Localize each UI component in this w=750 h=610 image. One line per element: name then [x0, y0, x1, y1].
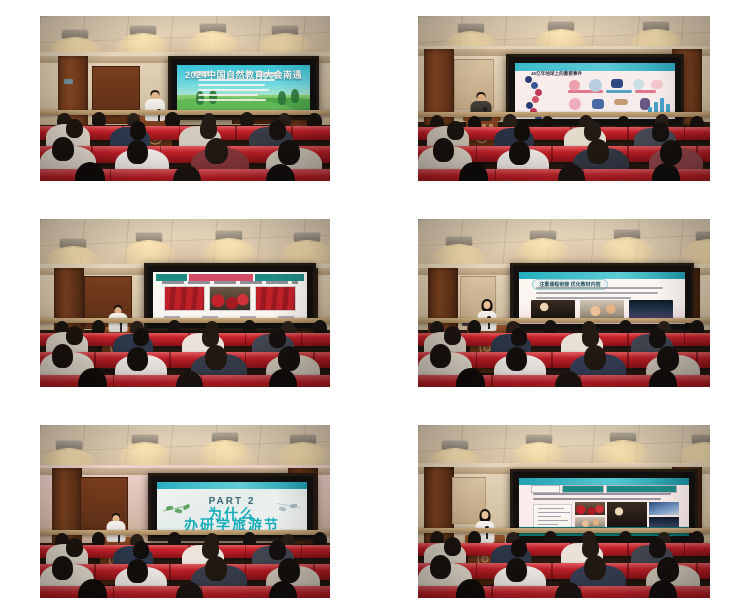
audience-head: [205, 556, 227, 581]
audience-head: [66, 326, 83, 345]
audience-head: [649, 538, 666, 558]
lecture-hall-scene-5: PART 2 为什么 办研学旅游节: [40, 425, 330, 598]
slide-header-bar: [157, 482, 307, 489]
photo-panel-1[interactable]: 2024中国自然教育大会南通分论坛: [40, 16, 330, 181]
audience-area-2: [418, 112, 710, 181]
ceiling-lamp-icon: [60, 239, 86, 248]
ceiling: [40, 16, 330, 52]
audience-head: [205, 138, 228, 164]
slide-photo: [164, 286, 205, 311]
slide-evolution-timeline: · · · · · · · · · · · · · · · · · · · · …: [515, 63, 675, 119]
photo-panel-4[interactable]: 注重课程衔接 优化教材内容: [418, 219, 710, 387]
projection-screen: · · · · · · · · · · · · · · · · · · · · …: [515, 63, 675, 119]
audience-head: [269, 540, 286, 560]
audience-head: [447, 121, 464, 140]
ceiling-lamp-icon: [200, 24, 226, 33]
audience-head: [652, 122, 669, 142]
audience-head: [278, 558, 300, 583]
ceiling-lamp-icon: [643, 22, 669, 31]
photo-panel-2[interactable]: · · · · · · · · · · · · · · · · · · · · …: [418, 16, 710, 181]
ceiling-lamp-icon: [530, 231, 556, 240]
lecture-hall-scene-6: 开启线上模式，开展"研学旅游节"，走进11所试点学校，覆盖近万名师生: [418, 425, 710, 598]
ceiling-lamp-icon: [132, 435, 158, 444]
audience-head: [52, 556, 73, 580]
slide-header-bar: · · · · · · · · · · · · · · · · · · · · …: [515, 63, 675, 71]
ceiling: [40, 219, 330, 264]
slide-header-bar: [519, 272, 685, 279]
ceiling-lamp-icon: [446, 237, 472, 246]
audience-head: [66, 538, 83, 557]
slide-document-thumb: [533, 504, 572, 529]
dna-helix-graphic: [523, 76, 549, 110]
audience-area-5: [40, 529, 330, 598]
audience-head: [657, 346, 679, 371]
ceiling-lamp-icon: [272, 26, 298, 35]
audience-head: [130, 121, 146, 140]
audience-head: [506, 558, 527, 582]
audience-head: [133, 541, 149, 559]
audience-area-1: [40, 108, 330, 181]
audience-head: [584, 555, 606, 580]
audience-head: [511, 539, 527, 557]
audience-head: [269, 120, 286, 140]
audience-head: [430, 555, 451, 579]
audience-head: [52, 344, 73, 368]
slide-photo: [575, 502, 605, 514]
audience-head: [66, 119, 83, 138]
exit-sign-icon: [64, 79, 73, 84]
audience-head: [127, 140, 148, 164]
projection-screen: 2024中国自然教育大会南通分论坛: [177, 65, 310, 111]
ceiling-lamp-icon: [526, 435, 552, 444]
audience-head: [269, 328, 286, 348]
ceiling: [418, 219, 710, 264]
audience-head: [127, 559, 148, 583]
audience-head: [511, 328, 527, 346]
audience-head: [78, 579, 107, 598]
ceiling: [40, 425, 330, 465]
ceiling-lamp-icon: [56, 441, 82, 450]
ceiling-lamp-icon: [442, 441, 468, 450]
audience-head: [587, 139, 609, 164]
audience-head: [202, 327, 219, 347]
photo-panel-3[interactable]: Speaker at podium; screen shows a three-…: [40, 219, 330, 387]
lecture-hall-scene-3: [40, 219, 330, 387]
audience-area-3: [40, 316, 330, 387]
audience-head: [444, 326, 461, 345]
ceiling-lamp-icon: [216, 231, 242, 240]
speaker-head: [484, 301, 491, 309]
projection-screen: PART 2 为什么 办研学旅游节: [157, 482, 307, 532]
ceiling-lamp-icon: [294, 233, 320, 242]
slide-photo: [255, 286, 296, 311]
audience-head: [649, 328, 666, 348]
ceiling-lamp-icon: [458, 24, 484, 33]
ceiling-lamp-icon: [696, 232, 710, 241]
ceiling: [418, 425, 710, 463]
slide-photo-grid: [575, 502, 679, 529]
lecture-hall-scene-1: 2024中国自然教育大会南通分论坛: [40, 16, 330, 181]
slide-photo-grid: [164, 286, 296, 311]
slide-photo: [209, 286, 250, 311]
ceiling-lamp-icon: [212, 433, 238, 442]
lecture-hall-scene-2: · · · · · · · · · · · · · · · · · · · · …: [418, 16, 710, 181]
slide-heading-line: [162, 281, 298, 284]
audience-head: [430, 344, 451, 368]
audience-head: [582, 327, 599, 347]
audience-area-6: [418, 527, 710, 598]
projection-screen: [153, 272, 307, 322]
speaker-head: [482, 511, 489, 519]
slide-section-divider: PART 2 为什么 办研学旅游节: [157, 482, 307, 532]
lecture-hall-scene-4: 注重课程衔接 优化教材内容: [418, 219, 710, 387]
slide-photo: [649, 502, 679, 514]
photo-panel-6[interactable]: 开启线上模式，开展"研学旅游节"，走进11所试点学校，覆盖近万名师生: [418, 425, 710, 598]
ceiling-lamp-icon: [130, 26, 156, 35]
audience-head: [433, 138, 454, 162]
ceiling-lamp-icon: [614, 230, 640, 239]
slide-photo-collage: [153, 272, 307, 322]
photo-grid: 2024中国自然教育大会南通分论坛: [0, 0, 750, 610]
audience-head: [660, 140, 682, 165]
audience-head: [278, 346, 300, 371]
ceiling-lamp-icon: [290, 435, 316, 444]
audience-head: [444, 537, 461, 556]
slide-header-bar: [519, 478, 689, 485]
audience-head: [506, 347, 527, 371]
audience-head: [584, 345, 606, 370]
ceiling-lamp-icon: [692, 435, 710, 444]
ceiling-lamp-icon: [548, 22, 574, 31]
audience-area-4: [418, 316, 710, 387]
audience-head: [200, 119, 217, 139]
ceiling-lamp-icon: [62, 30, 88, 39]
ceiling-lamp-icon: [136, 233, 162, 242]
slide-table-header-row: [531, 485, 677, 493]
slide-bullets: [198, 79, 275, 104]
audience-head: [509, 141, 530, 165]
slide-photo: [607, 502, 646, 529]
audience-head: [52, 137, 74, 161]
slide-title-nature: 2024中国自然教育大会南通分论坛: [177, 65, 310, 111]
audience-head: [657, 557, 679, 582]
photo-panel-5[interactable]: PART 2 为什么 办研学旅游节: [40, 425, 330, 598]
audience-head: [205, 345, 227, 370]
ceiling-lamp-icon: [610, 433, 636, 442]
ceiling: [418, 16, 710, 46]
audience-head: [278, 140, 300, 165]
audience-head: [514, 123, 530, 141]
audience-head: [127, 347, 148, 371]
audience-head: [133, 328, 149, 346]
audience-head: [456, 368, 485, 387]
